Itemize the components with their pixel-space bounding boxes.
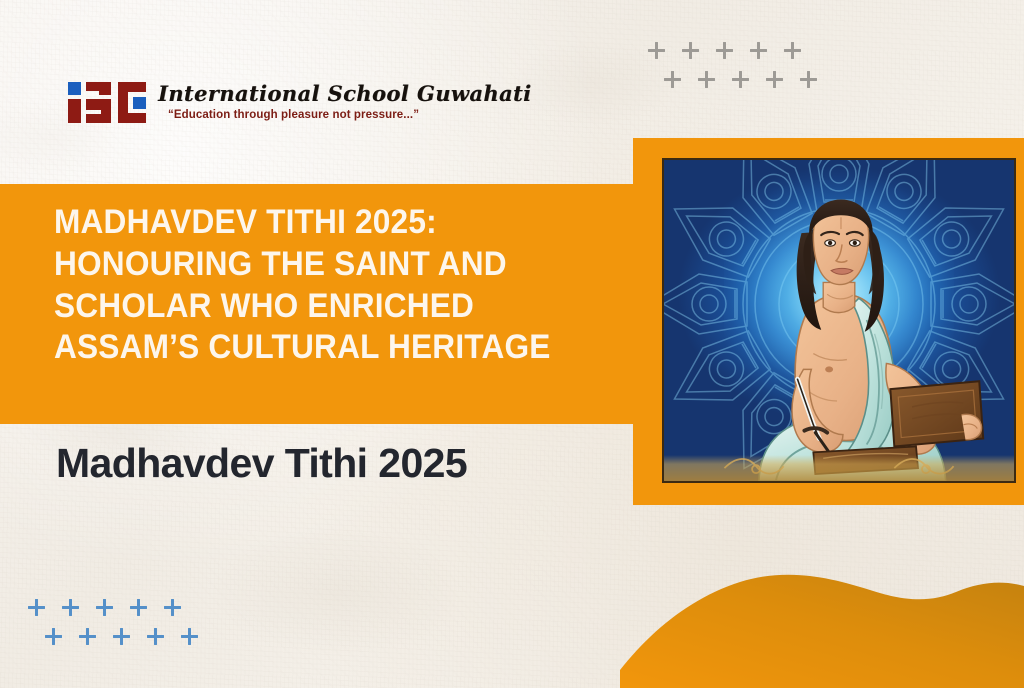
artwork-image [662, 158, 1016, 483]
plus-icon [800, 71, 817, 88]
plus-row [648, 42, 834, 59]
page-title: MADHAVDEV TITHI 2025: HONOURING THE SAIN… [54, 202, 561, 369]
decor-plus-grid-top-right [648, 42, 834, 88]
plus-icon [682, 42, 699, 59]
plus-icon [79, 628, 96, 645]
plus-icon [130, 599, 147, 616]
plus-icon [664, 71, 681, 88]
headline-line-2: HONOURING THE SAINT AND [54, 244, 561, 286]
headline-line-4: ASSAM’S CULTURAL HERITAGE [54, 327, 561, 369]
plus-row [664, 71, 834, 88]
subtitle: Madhavdev Tithi 2025 [56, 440, 467, 487]
plus-icon [147, 628, 164, 645]
plus-icon [750, 42, 767, 59]
plus-icon [648, 42, 665, 59]
decor-corner-blob [620, 540, 1024, 688]
saint-figure-illustration [664, 160, 1014, 481]
headline-line-3: SCHOLAR WHO ENRICHED [54, 286, 561, 328]
plus-icon [45, 628, 62, 645]
school-logo: International School Guwahati “Education… [66, 78, 532, 126]
school-name: International School Guwahati [158, 83, 532, 105]
plus-icon [784, 42, 801, 59]
plus-icon [716, 42, 733, 59]
school-tagline: “Education through pleasure not pressure… [168, 109, 532, 122]
plus-icon [96, 599, 113, 616]
artwork-frame [633, 138, 1024, 505]
plus-icon [62, 599, 79, 616]
plus-icon [113, 628, 130, 645]
plus-icon [164, 599, 181, 616]
headline-line-1: MADHAVDEV TITHI 2025: [54, 202, 561, 244]
plus-icon [698, 71, 715, 88]
decor-plus-grid-bottom-left [28, 599, 215, 645]
plus-row [45, 628, 215, 645]
poster-canvas: International School Guwahati “Education… [0, 0, 1024, 688]
plus-icon [28, 599, 45, 616]
plus-icon [732, 71, 749, 88]
plus-icon [766, 71, 783, 88]
isg-logo-mark-icon [66, 78, 150, 126]
plus-icon [181, 628, 198, 645]
logo-wordmark: International School Guwahati “Education… [158, 83, 532, 122]
plus-row [28, 599, 215, 616]
artwork-base-band [664, 455, 1014, 481]
